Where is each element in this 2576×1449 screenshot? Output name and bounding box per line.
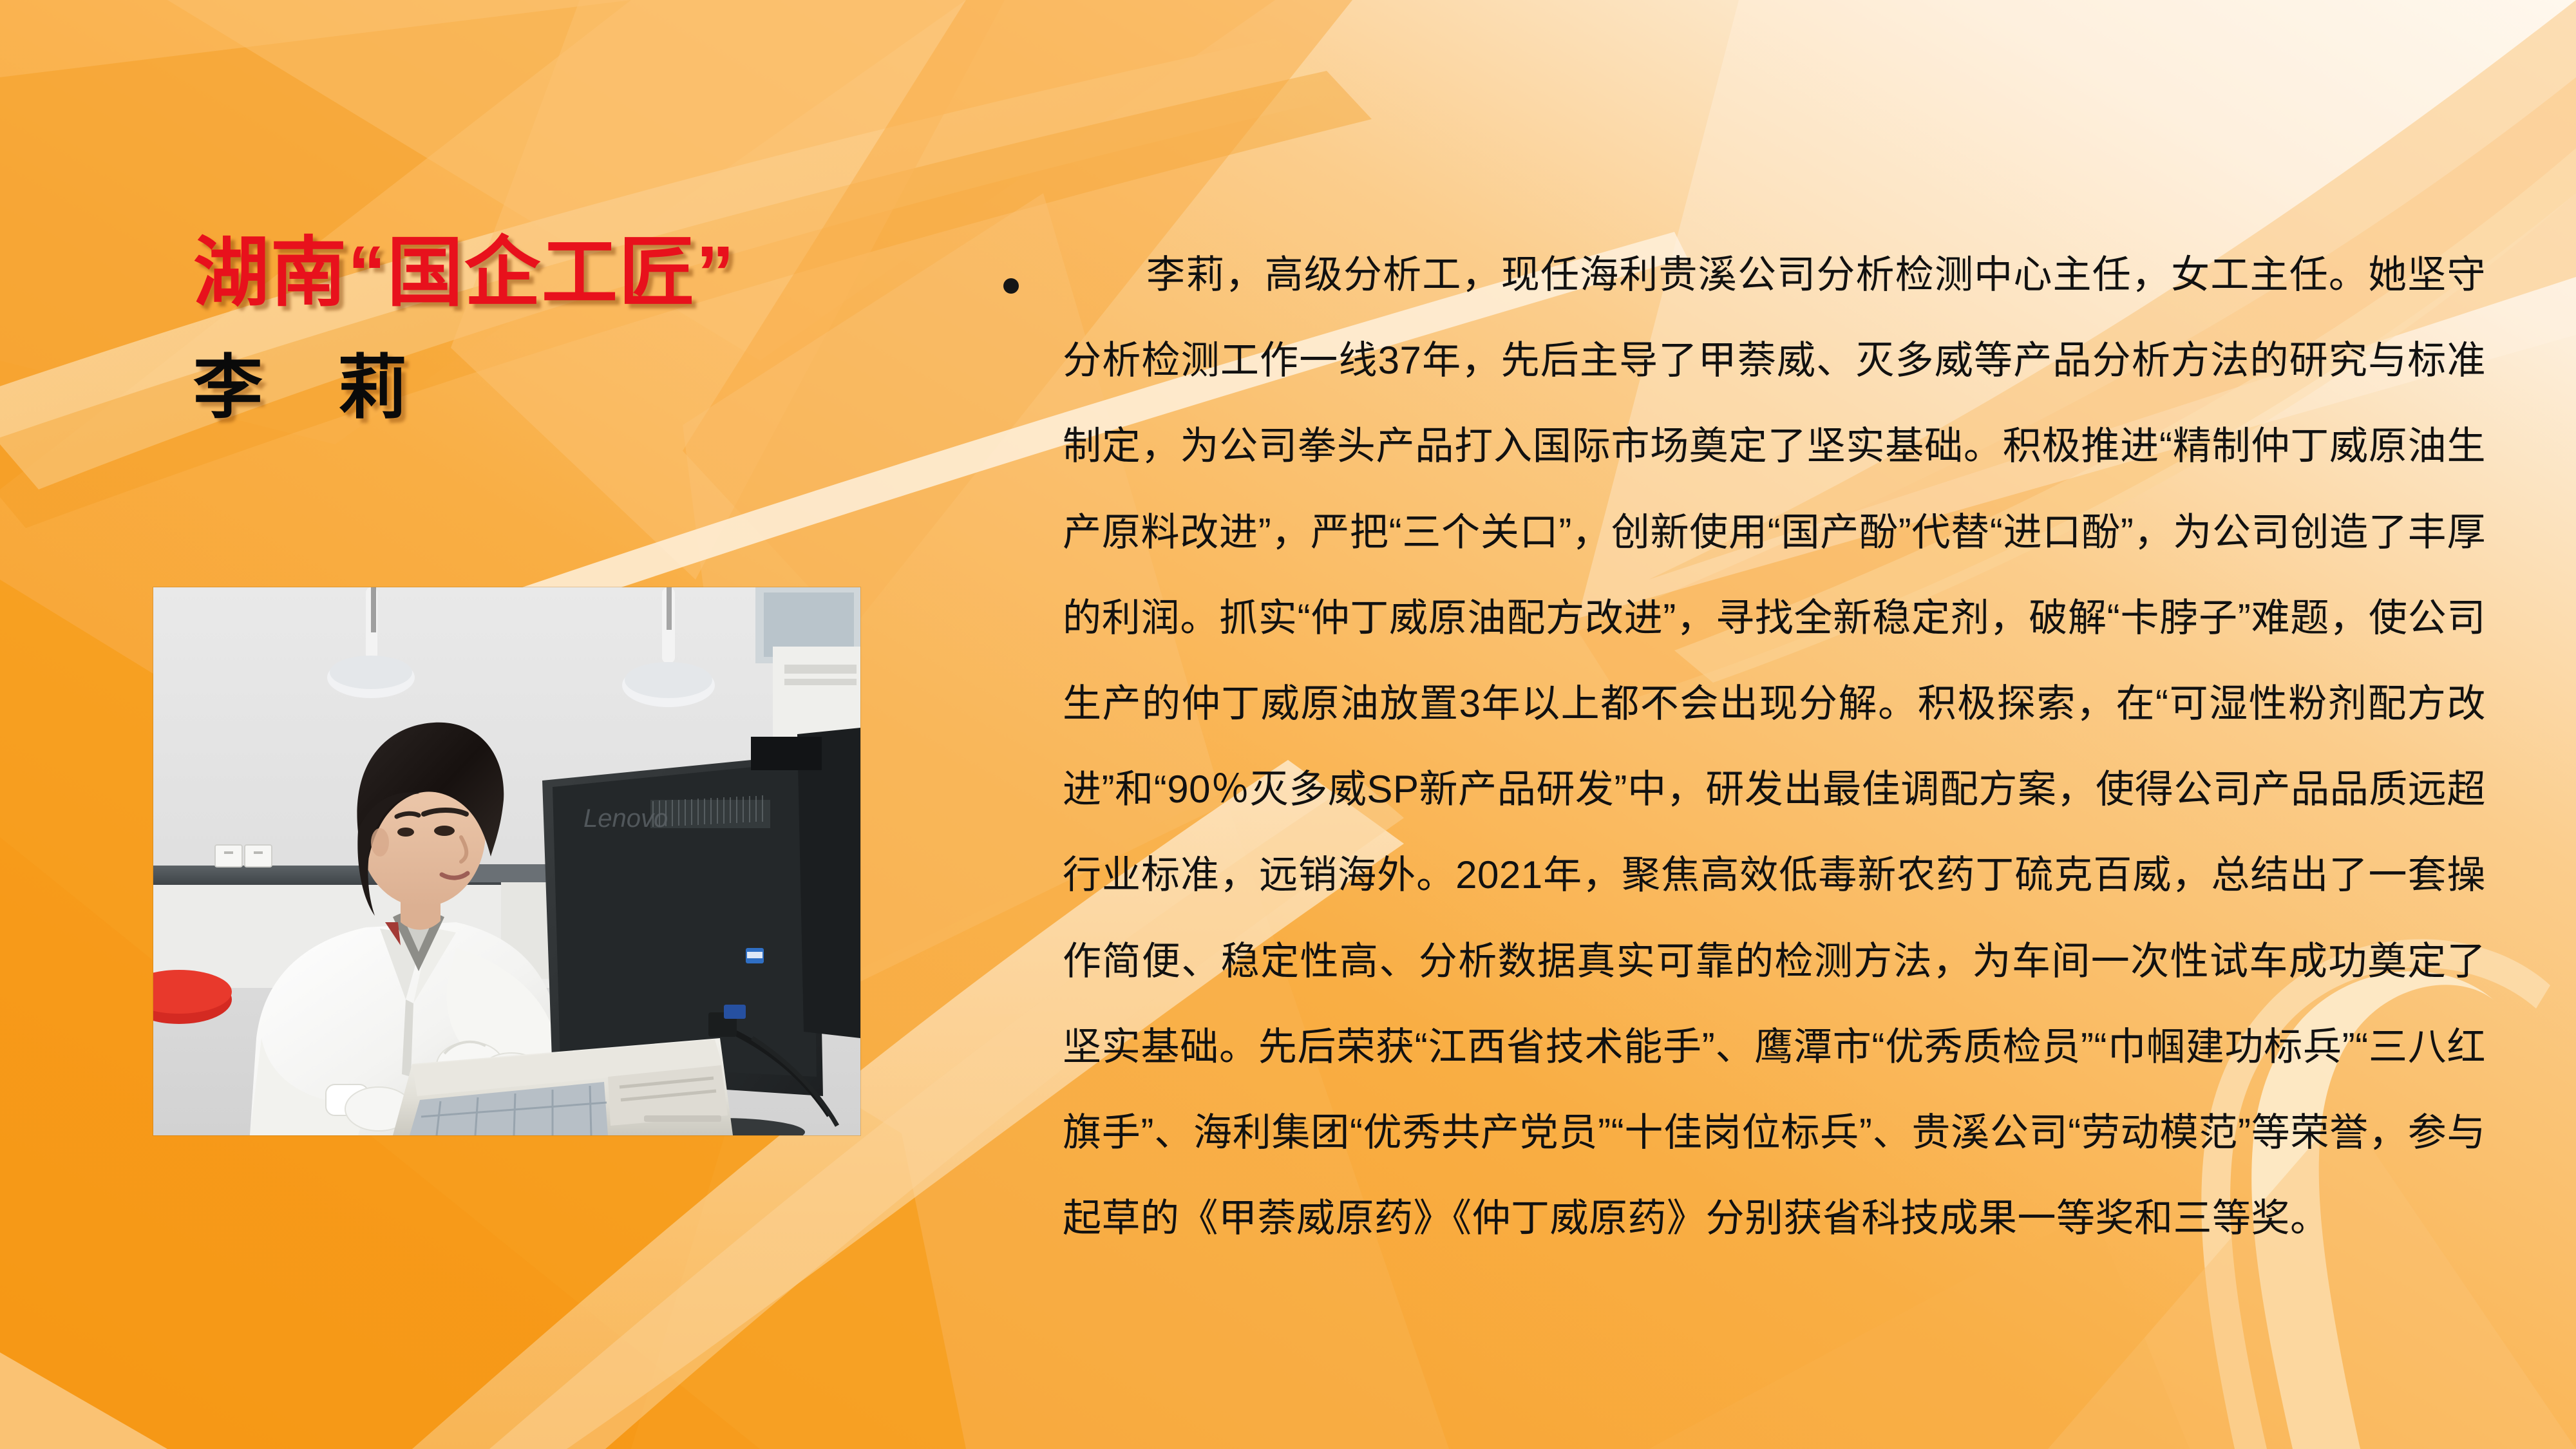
portrait-photo: Lenovo bbox=[153, 587, 860, 1135]
lab-photo-illustration: Lenovo bbox=[153, 587, 860, 1135]
title-block: 湖南“国企工匠” 李 莉 bbox=[193, 229, 934, 429]
biography-paragraph: 李莉，高级分析工，现任海利贵溪公司分析检测中心主任，女工主任。她坚守分析检测工作… bbox=[992, 232, 2486, 1261]
page-title: 湖南“国企工匠” bbox=[193, 229, 934, 318]
bullet-point-icon bbox=[1003, 278, 1019, 294]
left-column: 湖南“国企工匠” 李 莉 bbox=[0, 0, 966, 1449]
person-name-title: 李 莉 bbox=[193, 346, 934, 428]
svg-text:Lenovo: Lenovo bbox=[583, 804, 668, 833]
bullet-paragraph-row: 李莉，高级分析工，现任海利贵溪公司分析检测中心主任，女工主任。她坚守分析检测工作… bbox=[992, 232, 2486, 1261]
presentation-slide: 湖南“国企工匠” 李 莉 bbox=[0, 0, 2576, 1449]
body-column: 李莉，高级分析工，现任海利贵溪公司分析检测中心主任，女工主任。她坚守分析检测工作… bbox=[992, 193, 2486, 1300]
